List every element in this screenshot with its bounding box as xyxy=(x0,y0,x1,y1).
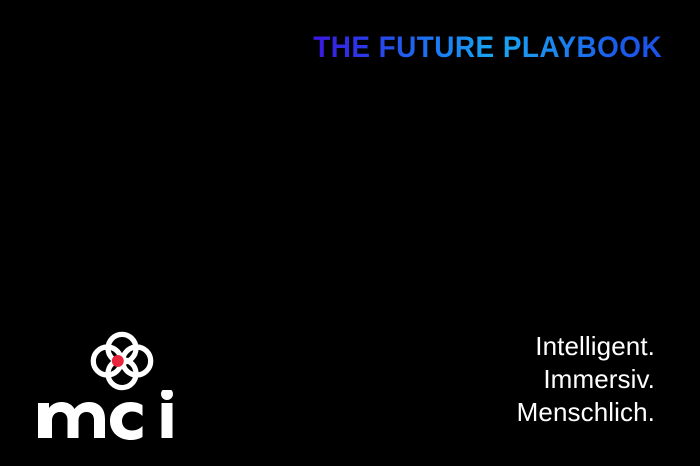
main-headline: BRAND EXPERIENCES 2030 xyxy=(155,104,662,290)
headline-line-year: 2030 xyxy=(206,231,662,290)
mci-wordmark xyxy=(36,390,186,440)
tagline-block: Intelligent. Immersiv. Menschlich. xyxy=(517,330,655,429)
tagline-line-3: Menschlich. xyxy=(517,396,655,429)
mci-logo xyxy=(36,328,186,440)
headline-line-brand: BRAND xyxy=(206,104,662,164)
mci-center-dot xyxy=(112,355,124,367)
eyebrow-headline: THE FUTURE PLAYBOOK xyxy=(313,33,662,63)
tagline-line-2: Immersiv. xyxy=(517,363,655,396)
mci-pinwheel-mark-icon xyxy=(87,328,157,394)
tagline-line-1: Intelligent. xyxy=(517,330,655,363)
poster-canvas: THE FUTURE PLAYBOOK BRAND EXPERIENCES 20… xyxy=(0,0,700,466)
headline-line-experiences: EXPERIENCES xyxy=(206,166,662,226)
